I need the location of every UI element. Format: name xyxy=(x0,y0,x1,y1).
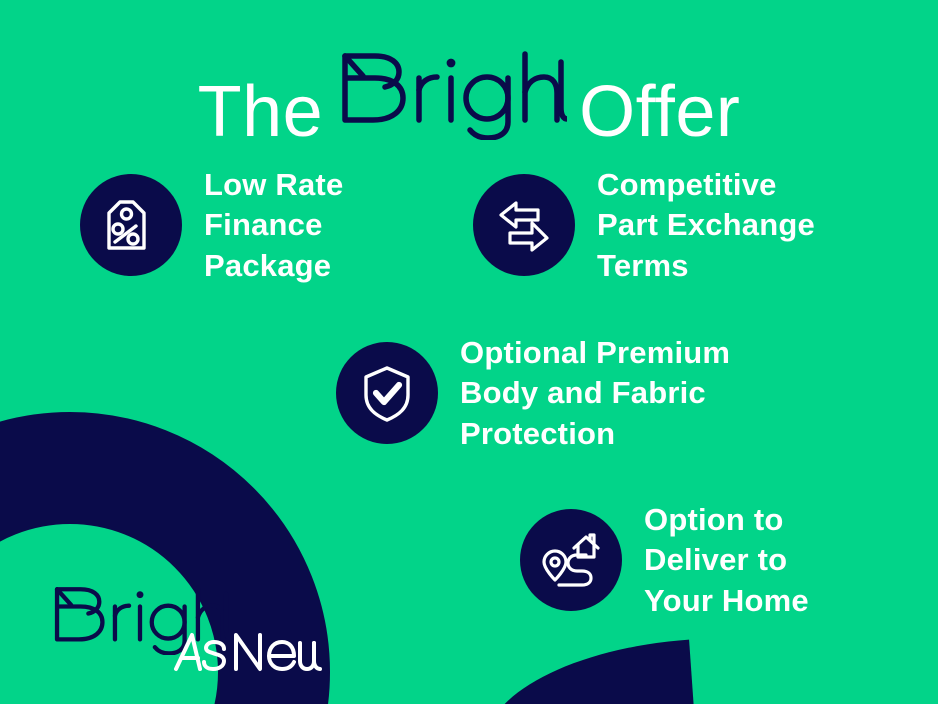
corner-wedge-shape xyxy=(480,640,696,704)
brand-logo xyxy=(40,583,290,683)
feature-label: Optional Premium Body and Fabric Protect… xyxy=(460,333,730,454)
feature-home-delivery: Option to Deliver to Your Home xyxy=(520,500,809,621)
price-tag-percent-icon xyxy=(80,174,182,276)
feature-label: Option to Deliver to Your Home xyxy=(644,500,809,621)
feature-label: Low Rate Finance Package xyxy=(204,165,343,286)
logo-asnew-wordmark xyxy=(172,629,322,675)
feature-label: Competitive Part Exchange Terms xyxy=(597,165,815,286)
headline-prefix: The xyxy=(198,76,324,148)
headline-suffix: Offer xyxy=(579,76,740,148)
promo-poster: The xyxy=(0,0,938,704)
headline-brand-wordmark xyxy=(335,48,567,140)
feature-low-rate-finance: Low Rate Finance Package xyxy=(80,165,343,286)
exchange-arrows-icon xyxy=(473,174,575,276)
home-delivery-route-icon xyxy=(520,509,622,611)
feature-part-exchange: Competitive Part Exchange Terms xyxy=(473,165,815,286)
feature-body-fabric-protection: Optional Premium Body and Fabric Protect… xyxy=(336,333,730,454)
shield-check-icon xyxy=(336,342,438,444)
page-title: The xyxy=(0,44,938,148)
